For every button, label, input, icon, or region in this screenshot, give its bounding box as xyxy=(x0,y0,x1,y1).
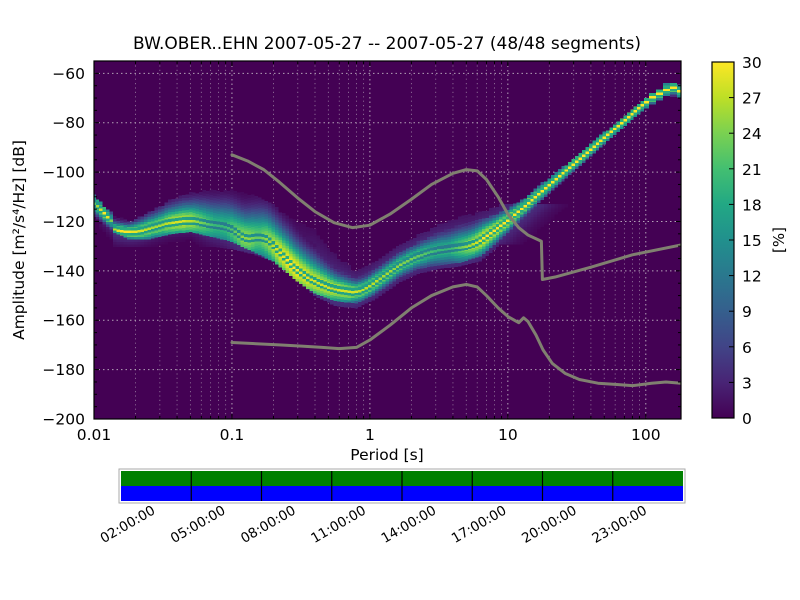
colorbar-tick-label: 9 xyxy=(742,303,752,321)
ppsd-cell xyxy=(416,241,419,244)
ppsd-cell xyxy=(496,207,499,210)
ppsd-cell xyxy=(551,204,554,207)
ppsd-cell xyxy=(544,204,547,207)
ppsd-cell xyxy=(410,255,413,258)
ppsd-cell xyxy=(447,220,450,223)
ppsd-cell xyxy=(313,277,316,280)
ppsd-cell xyxy=(185,195,188,198)
ppsd-cell xyxy=(344,262,347,265)
ppsd-cell xyxy=(154,222,158,225)
ppsd-cell xyxy=(582,151,585,154)
ppsd-cell xyxy=(592,142,595,145)
ppsd-cell xyxy=(496,224,499,227)
ppsd-cell xyxy=(320,254,323,257)
y-tick-label: −120 xyxy=(42,213,85,231)
ppsd-cell xyxy=(127,228,131,231)
ppsd-cell xyxy=(410,240,413,243)
ppsd-cell xyxy=(627,113,630,116)
ppsd-cell xyxy=(147,212,150,215)
ppsd-cell xyxy=(430,248,433,251)
ppsd-cell xyxy=(441,224,444,227)
ppsd-cell xyxy=(320,240,323,243)
ppsd-cell xyxy=(130,221,133,224)
ppsd-cell xyxy=(444,245,447,248)
ppsd-cell xyxy=(261,199,264,202)
ppsd-cell xyxy=(444,223,447,226)
ppsd-cell xyxy=(261,234,264,237)
ppsd-cell xyxy=(437,233,440,236)
ppsd-cell xyxy=(589,145,592,148)
ppsd-cell xyxy=(358,269,361,272)
ppsd-cell xyxy=(109,212,112,215)
ppsd-cell xyxy=(623,116,626,119)
ppsd-cell xyxy=(258,233,261,236)
ppsd-cell xyxy=(616,122,619,125)
ppsd-cell xyxy=(375,268,378,271)
ppsd-cell xyxy=(423,240,426,243)
ppsd-cell xyxy=(192,217,195,220)
ppsd-cell xyxy=(313,244,316,247)
ppsd-cell xyxy=(520,205,523,208)
ppsd-cell xyxy=(361,275,364,278)
ppsd-cell xyxy=(403,259,406,262)
ppsd-cell xyxy=(258,198,261,201)
ppsd-cell xyxy=(334,266,337,269)
ppsd-cell xyxy=(413,245,416,248)
ppsd-cell xyxy=(106,209,109,212)
ppsd-cell xyxy=(237,230,240,233)
ppsd-cell xyxy=(458,225,461,228)
ppsd-cell xyxy=(251,234,254,237)
ppsd-cell xyxy=(472,216,475,219)
ppsd-cell xyxy=(434,233,437,236)
ppsd-cell xyxy=(410,247,413,250)
ppsd-cell xyxy=(227,224,230,227)
ppsd-cell xyxy=(299,223,302,226)
ppsd-cell xyxy=(461,216,464,219)
ppsd-cell xyxy=(310,275,313,278)
colorbar-tick-label: 30 xyxy=(742,54,762,72)
ppsd-cell xyxy=(416,234,419,237)
ppsd-cell xyxy=(241,192,244,195)
ppsd-cell xyxy=(306,227,309,230)
ppsd-cell xyxy=(444,229,447,232)
ppsd-cell xyxy=(451,228,454,231)
ppsd-cell xyxy=(461,224,464,227)
x-tick-label: 10 xyxy=(498,426,518,444)
ppsd-cell xyxy=(275,245,278,248)
ppsd-cell xyxy=(199,218,202,221)
ppsd-cell xyxy=(606,131,609,134)
ppsd-cell xyxy=(334,285,337,288)
ppsd-cell xyxy=(599,137,602,140)
ppsd-cell xyxy=(351,288,354,291)
ppsd-cell xyxy=(285,256,288,259)
ppsd-cell xyxy=(206,191,209,194)
ppsd-cell xyxy=(420,241,423,244)
ppsd-cell xyxy=(385,270,388,273)
colorbar-tick-label: 27 xyxy=(742,90,762,108)
ppsd-cell xyxy=(99,202,102,205)
ppsd-cell xyxy=(327,261,330,264)
ppsd-cell xyxy=(323,257,326,260)
ppsd-cell xyxy=(330,252,333,255)
ppsd-cell xyxy=(341,272,344,275)
ppsd-cell xyxy=(127,221,131,224)
ppsd-cell xyxy=(299,268,302,271)
ppsd-cell xyxy=(192,193,195,196)
ppsd-cell xyxy=(468,241,471,244)
ppsd-cell xyxy=(247,195,250,198)
ppsd-cell xyxy=(447,245,450,248)
ppsd-cell xyxy=(485,231,488,234)
ppsd-cell xyxy=(434,247,437,250)
ppsd-cell xyxy=(561,204,564,207)
ppsd-cell xyxy=(299,231,302,234)
ppsd-cell xyxy=(210,221,213,224)
ppsd-cell xyxy=(656,89,663,92)
ppsd-cell xyxy=(134,227,137,230)
ppsd-cell xyxy=(254,233,257,236)
y-tick-label: −160 xyxy=(42,312,85,330)
ppsd-cell xyxy=(492,215,495,218)
ppsd-cell xyxy=(161,221,164,224)
ppsd-cell xyxy=(461,243,464,246)
ppsd-cell xyxy=(372,270,375,273)
ppsd-cell xyxy=(437,224,440,227)
ppsd-cell xyxy=(310,228,313,231)
ppsd-cell xyxy=(427,249,430,252)
ppsd-cell xyxy=(234,191,237,194)
ppsd-cell xyxy=(227,191,230,194)
ppsd-cell xyxy=(210,189,213,192)
ppsd-cell xyxy=(513,203,516,206)
ppsd-cell xyxy=(485,211,488,214)
ppsd-cell xyxy=(347,265,350,268)
ppsd-cell xyxy=(123,220,126,223)
y-tick-label: −200 xyxy=(42,411,85,429)
ppsd-cell xyxy=(179,196,182,199)
ppsd-cell xyxy=(182,217,185,220)
ppsd-cell xyxy=(120,227,123,230)
ppsd-cell xyxy=(423,232,426,235)
y-tick-label: −100 xyxy=(42,164,85,182)
ppsd-cell xyxy=(644,98,649,101)
ppsd-cell xyxy=(282,252,285,255)
colorbar-label: [%] xyxy=(770,227,788,253)
ppsd-cell xyxy=(303,234,306,237)
ppsd-cell xyxy=(203,190,206,193)
ppsd-cell xyxy=(451,244,454,247)
ppsd-cell xyxy=(337,286,340,289)
ppsd-cell xyxy=(196,194,199,197)
ppsd-cell xyxy=(99,205,102,208)
ppsd-cell xyxy=(420,233,423,236)
ppsd-cell xyxy=(649,93,656,96)
ppsd-cell xyxy=(372,263,375,266)
y-tick-label: −80 xyxy=(52,114,85,132)
ppsd-cell xyxy=(244,234,247,237)
colorbar-tick-label: 24 xyxy=(742,125,762,143)
ppsd-cell xyxy=(537,204,540,207)
ppsd-cell xyxy=(268,238,271,241)
ppsd-cell xyxy=(554,172,557,175)
ppsd-cell xyxy=(158,207,161,210)
ppsd-cell xyxy=(551,178,554,181)
ppsd-cell xyxy=(303,224,306,227)
ppsd-cell xyxy=(368,272,371,275)
ppsd-cell xyxy=(485,218,488,221)
ppsd-cell xyxy=(361,268,364,271)
ppsd-cell xyxy=(447,229,450,232)
ppsd-cell xyxy=(516,208,519,211)
ppsd-cell xyxy=(199,192,202,195)
colorbar-tick-label: 21 xyxy=(742,161,762,179)
ppsd-cell xyxy=(579,154,582,157)
ppsd-cell xyxy=(296,266,299,269)
ppsd-cell xyxy=(247,234,250,237)
ppsd-cell xyxy=(365,284,368,287)
ppsd-cell xyxy=(613,125,616,128)
ppsd-cell xyxy=(282,213,285,216)
x-tick-label: 100 xyxy=(631,426,661,444)
ppsd-cell xyxy=(375,261,378,264)
ppsd-cell xyxy=(454,226,457,229)
ppsd-cell xyxy=(385,261,388,264)
ppsd-cell xyxy=(392,265,395,268)
ppsd-cell xyxy=(492,226,495,229)
ppsd-cell xyxy=(527,199,530,202)
ppsd-cell xyxy=(120,218,123,221)
x-tick-label: 1 xyxy=(365,426,375,444)
ppsd-cell xyxy=(434,227,437,230)
ppsd-cell xyxy=(423,250,426,253)
ppsd-cell xyxy=(351,278,354,281)
ppsd-cell xyxy=(510,207,513,210)
ppsd-cell xyxy=(330,284,333,287)
ppsd-cell xyxy=(327,283,330,286)
colorbar-tick-label: 3 xyxy=(742,374,752,392)
ppsd-cell xyxy=(537,185,540,188)
ppsd-cell xyxy=(454,219,457,222)
ppsd-cell xyxy=(496,214,499,217)
ppsd-cell xyxy=(316,250,319,253)
ppsd-cell xyxy=(279,212,282,215)
figure-canvas: BW.OBER..EHN 2007-05-27 -- 2007-05-27 (4… xyxy=(0,0,800,600)
colorbar-tick-label: 6 xyxy=(742,339,752,357)
ppsd-cell xyxy=(503,219,506,222)
ppsd-cell xyxy=(137,227,140,230)
ppsd-cell xyxy=(182,195,185,198)
ppsd-cell xyxy=(551,175,554,178)
ppsd-cell xyxy=(437,246,440,249)
ppsd-cell xyxy=(379,259,382,262)
ppsd-cell xyxy=(399,252,402,255)
ppsd-cell xyxy=(116,226,120,229)
ppsd-cell xyxy=(337,259,340,262)
ppsd-cell xyxy=(568,163,571,166)
ppsd-cell xyxy=(499,212,502,215)
ppsd-cell xyxy=(341,262,344,265)
ppsd-cell xyxy=(134,219,137,222)
ppsd-cell xyxy=(213,221,216,224)
ppsd-cell xyxy=(154,207,158,210)
ppsd-cell xyxy=(506,204,509,207)
ppsd-cell xyxy=(634,107,637,110)
ppsd-cell xyxy=(361,286,364,289)
colorbar-tick-label: 15 xyxy=(742,232,762,250)
ppsd-cell xyxy=(254,196,257,199)
ppsd-cell xyxy=(406,257,409,260)
ppsd-cell xyxy=(468,214,471,217)
ppsd-cell xyxy=(561,169,564,172)
ppsd-cell xyxy=(413,238,416,241)
ppsd-cell xyxy=(663,86,670,89)
ppsd-cell xyxy=(113,225,117,228)
ppsd-cell xyxy=(130,228,133,231)
ppsd-cell xyxy=(641,101,644,104)
ppsd-cell xyxy=(296,226,299,229)
ppsd-cell xyxy=(458,243,461,246)
ppsd-cell xyxy=(392,256,395,259)
ppsd-cell xyxy=(482,234,485,237)
ppsd-cell xyxy=(530,192,533,195)
ppsd-cell xyxy=(489,229,492,232)
ppsd-cell xyxy=(441,232,444,235)
ppsd-cell xyxy=(185,217,188,220)
ppsd-cell xyxy=(116,218,120,221)
ppsd-cell xyxy=(289,219,292,222)
ppsd-cell xyxy=(103,209,107,212)
ppsd-cell xyxy=(272,204,275,207)
time-coverage-bar[interactable] xyxy=(119,469,685,503)
ppsd-cell xyxy=(265,235,268,238)
ppsd-cell xyxy=(548,204,551,207)
ppsd-cell xyxy=(558,169,561,172)
ppsd-cell xyxy=(465,242,468,245)
ppsd-cell xyxy=(334,254,337,257)
ppsd-cell xyxy=(303,271,306,274)
ppsd-cell xyxy=(565,204,568,207)
ppsd-cell xyxy=(541,187,544,190)
ppsd-cell xyxy=(475,238,478,241)
ppsd-cell xyxy=(392,249,395,252)
ppsd-cell xyxy=(479,236,482,239)
ppsd-cell xyxy=(389,267,392,270)
ppsd-cell xyxy=(354,278,357,281)
ppsd-cell xyxy=(382,256,385,259)
ppsd-cell xyxy=(368,282,371,285)
ppsd-cell xyxy=(575,157,578,160)
ppsd-cell xyxy=(203,219,206,222)
ppsd-cell xyxy=(548,181,551,184)
ppsd-cell xyxy=(548,178,551,181)
ppsd-cell xyxy=(482,211,485,214)
y-axis-label: Amplitude [m²/s⁴/Hz] [dB] xyxy=(10,140,28,340)
y-tick-label: −60 xyxy=(52,65,85,83)
ppsd-cell xyxy=(413,254,416,257)
ppsd-cell xyxy=(472,221,475,224)
ppsd-cell xyxy=(279,249,282,252)
ppsd-cell xyxy=(430,228,433,231)
ppsd-cell xyxy=(596,140,599,143)
y-tick-label: −180 xyxy=(42,361,85,379)
ppsd-cell xyxy=(306,273,309,276)
ppsd-cell xyxy=(427,237,430,240)
ppsd-cell xyxy=(489,215,492,218)
ppsd-cell xyxy=(396,262,399,265)
ppsd-cell xyxy=(499,221,502,224)
ppsd-cell xyxy=(330,265,333,268)
ppsd-cell xyxy=(396,246,399,249)
ppsd-cell xyxy=(399,260,402,263)
ppsd-cell xyxy=(141,217,144,220)
ppsd-cell xyxy=(530,196,533,199)
ppsd-cell xyxy=(554,175,557,178)
ppsd-cell xyxy=(534,193,537,196)
ppsd-cell xyxy=(403,243,406,246)
ppsd-cell xyxy=(179,217,182,220)
ppsd-cell xyxy=(368,264,371,267)
ppsd-cell xyxy=(323,244,326,247)
ppsd-cell xyxy=(358,287,361,290)
ppsd-cell xyxy=(454,244,457,247)
ppsd-cell xyxy=(479,219,482,222)
ppsd-cell xyxy=(137,217,140,220)
ppsd-cell xyxy=(523,202,526,205)
ppsd-cell xyxy=(406,241,409,244)
ppsd-cell xyxy=(465,223,468,226)
ppsd-cell xyxy=(358,277,361,280)
ppsd-cell xyxy=(630,110,633,113)
ppsd-cell xyxy=(379,275,382,278)
ppsd-cell xyxy=(670,83,677,86)
ppsd-cell xyxy=(489,208,492,211)
ppsd-cell xyxy=(451,220,454,223)
ppsd-cell xyxy=(175,198,178,201)
ppsd-cell xyxy=(523,198,526,201)
ppsd-cell xyxy=(296,222,299,225)
ppsd-cell xyxy=(430,236,433,239)
ppsd-cell xyxy=(610,128,613,131)
ppsd-cell xyxy=(558,172,561,175)
ppsd-cell xyxy=(196,218,199,221)
ppsd-cell xyxy=(165,203,168,206)
ppsd-cell xyxy=(465,215,468,218)
ppsd-cell xyxy=(561,166,564,169)
ppsd-cell xyxy=(206,220,209,223)
ppsd-cell xyxy=(241,233,244,236)
ppsd-cell xyxy=(172,218,175,221)
ppsd-cell xyxy=(541,182,544,185)
ppsd-cell xyxy=(275,207,278,210)
ppsd-cell xyxy=(365,266,368,269)
ppsd-cell xyxy=(585,148,588,151)
ppsd-cell xyxy=(375,277,378,280)
ppsd-cell xyxy=(406,249,409,252)
ppsd-cell xyxy=(151,211,154,214)
ppsd-cell xyxy=(289,260,292,263)
ppsd-cell xyxy=(516,203,519,206)
ppsd-cell xyxy=(620,119,623,122)
ppsd-cell xyxy=(354,271,357,274)
ppsd-cell xyxy=(372,280,375,283)
ppsd-cell xyxy=(323,282,326,285)
ppsd-cell xyxy=(223,190,226,193)
ppsd-cell xyxy=(344,287,347,290)
ppsd-cell xyxy=(158,221,161,224)
ppsd-cell xyxy=(482,219,485,222)
